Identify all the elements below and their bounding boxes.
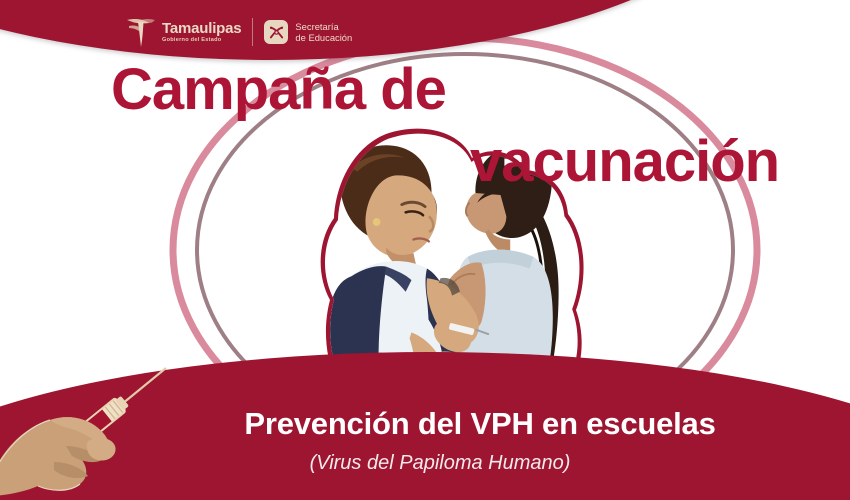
footer-subtitle: (Virus del Papiloma Humano) — [0, 452, 850, 475]
secretaria-educacion-emblem-icon — [264, 20, 288, 44]
headline-line-1: Campaña de — [111, 56, 446, 123]
tamaulipas-wordmark: Tamaulipas Gobierno del Estado — [162, 21, 241, 44]
headline-line-2: vacunación — [470, 128, 779, 195]
footer-title: Prevención del VPH en escuelas — [0, 406, 850, 442]
tamaulipas-logo: Tamaulipas Gobierno del Estado — [126, 16, 241, 48]
logo-divider — [252, 18, 253, 46]
tamaulipas-t-mark-icon — [126, 16, 156, 48]
tamaulipas-subtitle: Gobierno del Estado — [162, 38, 241, 44]
vaccination-campaign-banner: Tamaulipas Gobierno del Estado Secretarí… — [0, 0, 850, 500]
secretaria-line-2: de Educación — [295, 32, 352, 43]
secretaria-educacion-wordmark: Secretaría de Educación — [295, 21, 352, 44]
header-band — [0, 0, 770, 60]
secretaria-educacion-logo: Secretaría de Educación — [264, 20, 352, 44]
tamaulipas-name: Tamaulipas — [162, 21, 241, 36]
secretaria-line-1: Secretaría — [295, 21, 352, 32]
header-logo-row: Tamaulipas Gobierno del Estado Secretarí… — [126, 14, 352, 50]
